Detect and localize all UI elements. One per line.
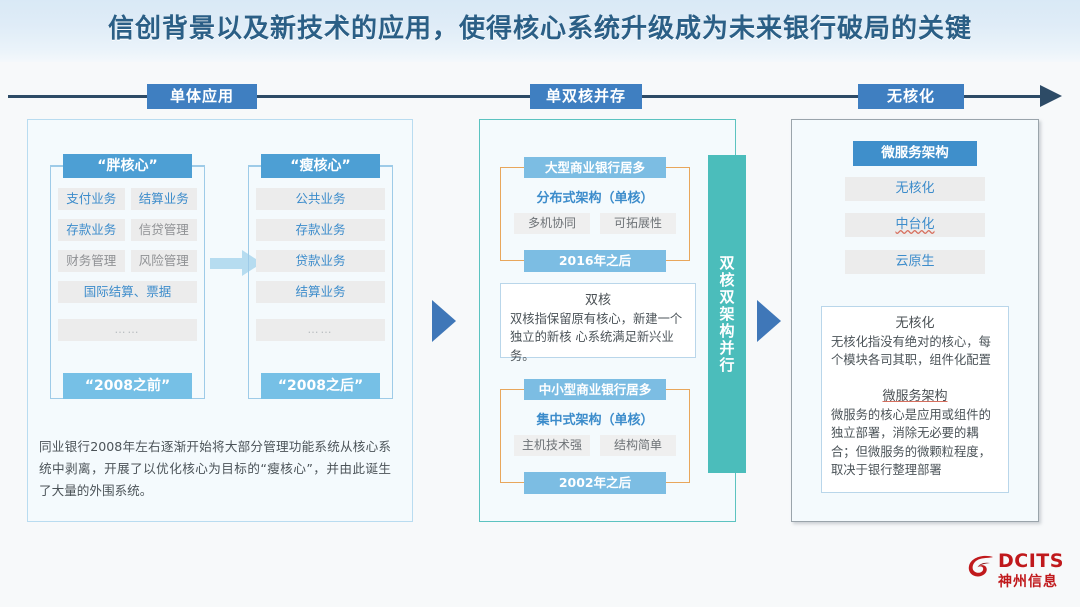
group-large-bank-footer: 2016年之后 [524, 250, 666, 272]
dual-core-vertical-label: 双核双架构并行 [708, 155, 746, 473]
dual-core-note-title: 双核 [501, 289, 695, 308]
logo-chinese-text: 神州信息 [998, 571, 1058, 591]
coreless-note-title-1: 无核化 [822, 312, 1008, 331]
group-small-bank-footer: 2002年之后 [524, 472, 666, 494]
group-large-bank-tag: 可拓展性 [600, 213, 676, 234]
timeline-stage-3[interactable]: 无核化 [858, 84, 964, 109]
thin-core-footer: “2008之后” [261, 373, 380, 399]
fat-core-header: “胖核心” [63, 154, 192, 178]
midplatform-tag: 中台化 [845, 213, 985, 237]
coreless-tag: 无核化 [845, 177, 985, 201]
group-large-bank-tag: 多机协同 [514, 213, 590, 234]
group-small-bank-header: 中小型商业银行居多 [524, 379, 666, 400]
thin-core-column: “瘦核心” 公共业务 存款业务 贷款业务 结算业务 …… “2008之后” [248, 154, 393, 399]
stage-transition-arrow-icon-2 [757, 300, 781, 342]
fat-core-tag-ellipsis: …… [58, 319, 197, 341]
group-small-bank-subtitle: 集中式架构（单核） [500, 409, 690, 428]
timeline-arrow-icon [1040, 85, 1062, 107]
thin-core-tag: 结算业务 [256, 281, 385, 303]
fat-core-footer: “2008之前” [63, 373, 192, 399]
fat-core-tag: 信贷管理 [131, 219, 198, 241]
logo-brand-text: DCITS [998, 550, 1064, 572]
company-logo: DCITS 神州信息 [966, 549, 1070, 593]
thin-core-tag: 存款业务 [256, 219, 385, 241]
fat-core-tag: 存款业务 [58, 219, 125, 241]
fat-core-column: “胖核心” 支付业务 结算业务 存款业务 信贷管理 财务管理 风险管理 国际结算… [50, 154, 205, 399]
group-small-bank-tag: 结构简单 [600, 435, 676, 456]
coreless-note-body-2: 微服务的核心是应用或组件的独立部署，消除无必要的耦合；但微服务的微颗粒程度，取决… [822, 406, 1008, 484]
arrow-shaft [210, 258, 244, 269]
group-small-bank-tag: 主机技术强 [514, 435, 590, 456]
page-title: 信创背景以及新技术的应用，使得核心系统升级成为未来银行破局的关键 [0, 8, 1080, 45]
stage-transition-arrow-icon-1 [432, 300, 456, 342]
thin-core-header: “瘦核心” [261, 154, 380, 178]
group-large-bank-subtitle: 分布式架构（单核） [500, 187, 690, 206]
thin-core-tag: 贷款业务 [256, 250, 385, 272]
fat-core-tag: 结算业务 [131, 188, 198, 210]
fat-core-tag: 风险管理 [131, 250, 198, 272]
thin-core-tag-ellipsis: …… [256, 319, 385, 341]
fat-core-tag: 国际结算、票据 [58, 281, 197, 303]
dual-core-vertical-bar: 双核双架构并行 [708, 155, 746, 473]
timeline-stage-2[interactable]: 单双核并存 [530, 84, 642, 109]
dual-core-note-body: 双核指保留原有核心，新建一个独立的新核 心系统满足新兴业务。 [501, 310, 695, 369]
cloudnative-tag: 云原生 [845, 250, 985, 274]
fat-core-tag: 财务管理 [58, 250, 125, 272]
fat-core-tag: 支付业务 [58, 188, 125, 210]
group-small-bank: 中小型商业银行居多 集中式架构（单核） 主机技术强 结构简单 2002年之后 [500, 379, 690, 494]
group-large-bank-header: 大型商业银行居多 [524, 157, 666, 178]
dcits-swoosh-icon [966, 552, 996, 582]
coreless-note-title-2: 微服务架构 [822, 385, 1008, 404]
coreless-note: 无核化 无核化指没有绝对的核心，每个模块各司其职，组件化配置 微服务架构 微服务… [821, 306, 1009, 493]
panel-monolithic-note: 同业银行2008年左右逐渐开始将大部分管理功能系统从核心系统中剥离，开展了以优化… [39, 436, 391, 502]
microservice-header: 微服务架构 [853, 141, 977, 166]
coreless-note-body-1: 无核化指没有绝对的核心，每个模块各司其职，组件化配置 [822, 333, 1008, 374]
group-large-bank: 大型商业银行居多 分布式架构（单核） 多机协同 可拓展性 2016年之后 [500, 157, 690, 272]
dual-core-note: 双核 双核指保留原有核心，新建一个独立的新核 心系统满足新兴业务。 [500, 283, 696, 358]
thin-core-tag: 公共业务 [256, 188, 385, 210]
timeline-stage-1[interactable]: 单体应用 [147, 84, 257, 109]
